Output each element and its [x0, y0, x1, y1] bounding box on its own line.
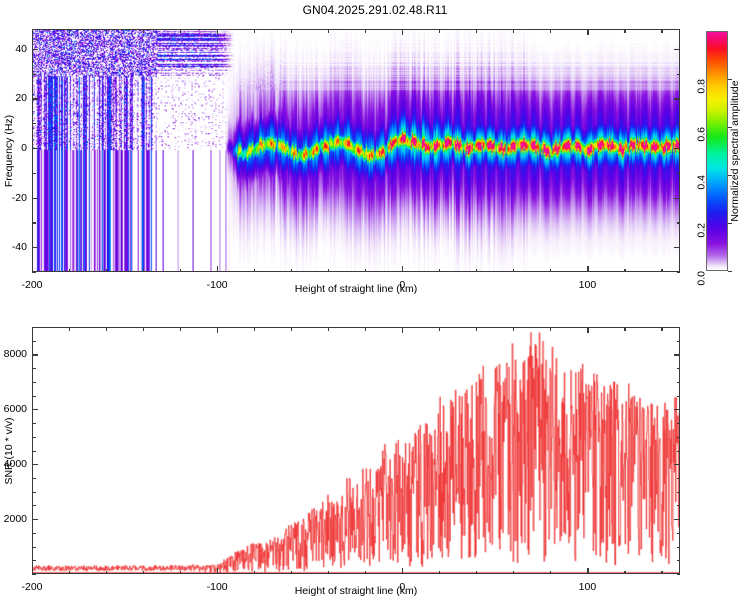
snr-plot-area [32, 327, 680, 574]
x-minor-tick [550, 269, 551, 273]
y-minor-tick [677, 341, 681, 342]
y-major-tick [32, 519, 38, 520]
x-major-tick [402, 266, 403, 272]
x-minor-tick [69, 571, 70, 575]
x-major-tick [217, 266, 218, 272]
colorbar-tick-label: 0.8 [696, 79, 708, 94]
y-major-tick [32, 198, 38, 199]
y-minor-tick [32, 492, 36, 493]
y-minor-tick [32, 74, 36, 75]
x-minor-tick [106, 269, 107, 273]
y-minor-tick [677, 492, 681, 493]
x-major-tick [217, 29, 218, 35]
x-major-tick [217, 327, 218, 333]
y-minor-tick [677, 547, 681, 548]
x-minor-tick [661, 327, 662, 331]
y-tick-label: 2000 [4, 513, 27, 525]
x-minor-tick [365, 327, 366, 331]
x-minor-tick [254, 29, 255, 33]
y-minor-tick [677, 272, 681, 273]
y-major-tick [674, 148, 680, 149]
y-minor-tick [677, 173, 681, 174]
y-minor-tick [32, 327, 36, 328]
y-minor-tick [32, 341, 36, 342]
x-major-tick [402, 568, 403, 574]
y-minor-tick [677, 423, 681, 424]
x-major-tick [217, 568, 218, 574]
x-minor-tick [254, 327, 255, 331]
y-minor-tick [32, 396, 36, 397]
y-minor-tick [32, 451, 36, 452]
y-major-tick [32, 354, 38, 355]
x-major-tick [587, 29, 588, 35]
y-minor-tick [677, 222, 681, 223]
y-minor-tick [677, 382, 681, 383]
y-minor-tick [32, 423, 36, 424]
y-major-tick [32, 247, 38, 248]
x-minor-tick [439, 269, 440, 273]
x-minor-tick [69, 327, 70, 331]
x-minor-tick [143, 571, 144, 575]
y-minor-tick [677, 74, 681, 75]
y-major-tick [674, 49, 680, 50]
y-tick-label: 40 [15, 43, 27, 55]
y-minor-tick [32, 547, 36, 548]
page-title: GN04.2025.291.02.48.R11 [0, 3, 750, 17]
x-minor-tick [106, 571, 107, 575]
x-minor-tick [550, 29, 551, 33]
y-major-tick [32, 98, 38, 99]
x-minor-tick [624, 327, 625, 331]
x-minor-tick [365, 571, 366, 575]
colorbar-title: Normalized spectral amplitude [729, 80, 741, 221]
x-tick-label: -100 [207, 581, 228, 593]
snr-y-axis-title: SNR (10 * v/v) [3, 417, 15, 484]
y-minor-tick [32, 123, 36, 124]
y-minor-tick [677, 437, 681, 438]
x-tick-label: 100 [579, 581, 597, 593]
y-major-tick [674, 464, 680, 465]
colorbar-tick-label: 0.6 [696, 127, 708, 142]
x-tick-label: 100 [579, 279, 597, 291]
x-minor-tick [476, 571, 477, 575]
x-major-tick [32, 29, 33, 35]
x-minor-tick [439, 29, 440, 33]
spectrogram-x-axis-title: Height of straight line (km) [295, 283, 418, 295]
y-major-tick [32, 464, 38, 465]
x-minor-tick [476, 269, 477, 273]
colorbar-tick [728, 223, 732, 224]
x-minor-tick [513, 29, 514, 33]
x-minor-tick [143, 327, 144, 331]
x-tick-label: -100 [207, 279, 228, 291]
x-minor-tick [550, 327, 551, 331]
y-minor-tick [32, 437, 36, 438]
x-minor-tick [661, 571, 662, 575]
x-minor-tick [439, 571, 440, 575]
x-minor-tick [365, 29, 366, 33]
x-minor-tick [69, 269, 70, 273]
x-major-tick [587, 327, 588, 333]
y-tick-label: 20 [15, 92, 27, 104]
x-minor-tick [550, 571, 551, 575]
x-tick-label: -200 [21, 581, 42, 593]
x-minor-tick [69, 29, 70, 33]
y-minor-tick [677, 123, 681, 124]
y-minor-tick [677, 533, 681, 534]
figure-root: GN04.2025.291.02.48.R11 -200-10001004020… [0, 0, 750, 600]
y-major-tick [32, 148, 38, 149]
y-minor-tick [677, 327, 681, 328]
x-minor-tick [106, 29, 107, 33]
colorbar-tick [728, 271, 732, 272]
y-minor-tick [32, 533, 36, 534]
spectrogram-plot-area [32, 29, 680, 272]
colorbar-tick-label: 0.4 [696, 175, 708, 190]
x-major-tick [587, 568, 588, 574]
y-tick-label: 6000 [4, 403, 27, 415]
y-minor-tick [32, 272, 36, 273]
x-minor-tick [513, 327, 514, 331]
colorbar: 0.80.60.40.20.0 [706, 31, 728, 271]
x-minor-tick [328, 29, 329, 33]
y-minor-tick [32, 382, 36, 383]
y-minor-tick [32, 368, 36, 369]
x-minor-tick [180, 571, 181, 575]
y-minor-tick [32, 173, 36, 174]
y-minor-tick [32, 222, 36, 223]
x-minor-tick [476, 29, 477, 33]
y-major-tick [674, 519, 680, 520]
y-minor-tick [677, 505, 681, 506]
y-major-tick [674, 354, 680, 355]
x-major-tick [402, 327, 403, 333]
x-minor-tick [328, 269, 329, 273]
x-tick-label: -200 [21, 279, 42, 291]
x-minor-tick [365, 269, 366, 273]
x-minor-tick [624, 29, 625, 33]
x-minor-tick [143, 29, 144, 33]
x-minor-tick [180, 29, 181, 33]
x-minor-tick [291, 269, 292, 273]
spectrogram-y-axis-title: Frequency (Hz) [3, 115, 15, 187]
y-minor-tick [32, 560, 36, 561]
snr-x-axis-title: Height of straight line (km) [295, 585, 418, 597]
colorbar-tick-label: 0.0 [696, 271, 708, 286]
y-major-tick [674, 409, 680, 410]
snr-line-trace [33, 328, 679, 573]
y-minor-tick [677, 560, 681, 561]
x-minor-tick [661, 29, 662, 33]
x-major-tick [587, 266, 588, 272]
y-minor-tick [677, 368, 681, 369]
x-minor-tick [291, 571, 292, 575]
y-minor-tick [677, 451, 681, 452]
x-minor-tick [106, 327, 107, 331]
y-major-tick [32, 409, 38, 410]
y-tick-label: 8000 [4, 348, 27, 360]
y-minor-tick [677, 478, 681, 479]
y-tick-label: -20 [12, 192, 27, 204]
x-minor-tick [143, 269, 144, 273]
x-minor-tick [476, 327, 477, 331]
x-minor-tick [180, 327, 181, 331]
x-minor-tick [328, 571, 329, 575]
x-major-tick [402, 29, 403, 35]
y-minor-tick [32, 505, 36, 506]
x-minor-tick [254, 571, 255, 575]
x-minor-tick [328, 327, 329, 331]
x-minor-tick [624, 269, 625, 273]
spectrogram-image [33, 30, 679, 271]
x-minor-tick [624, 571, 625, 575]
x-minor-tick [513, 269, 514, 273]
x-minor-tick [254, 269, 255, 273]
y-minor-tick [32, 574, 36, 575]
y-major-tick [674, 98, 680, 99]
x-minor-tick [180, 269, 181, 273]
y-minor-tick [677, 574, 681, 575]
y-minor-tick [677, 396, 681, 397]
y-minor-tick [32, 478, 36, 479]
y-major-tick [674, 198, 680, 199]
y-major-tick [674, 247, 680, 248]
y-major-tick [32, 49, 38, 50]
x-minor-tick [439, 327, 440, 331]
y-tick-label: 0 [21, 142, 27, 154]
x-minor-tick [513, 571, 514, 575]
colorbar-tick-label: 0.2 [696, 223, 708, 238]
colorbar-gradient [706, 31, 728, 271]
x-minor-tick [291, 327, 292, 331]
y-tick-label: -40 [12, 241, 27, 253]
x-minor-tick [291, 29, 292, 33]
x-minor-tick [661, 269, 662, 273]
